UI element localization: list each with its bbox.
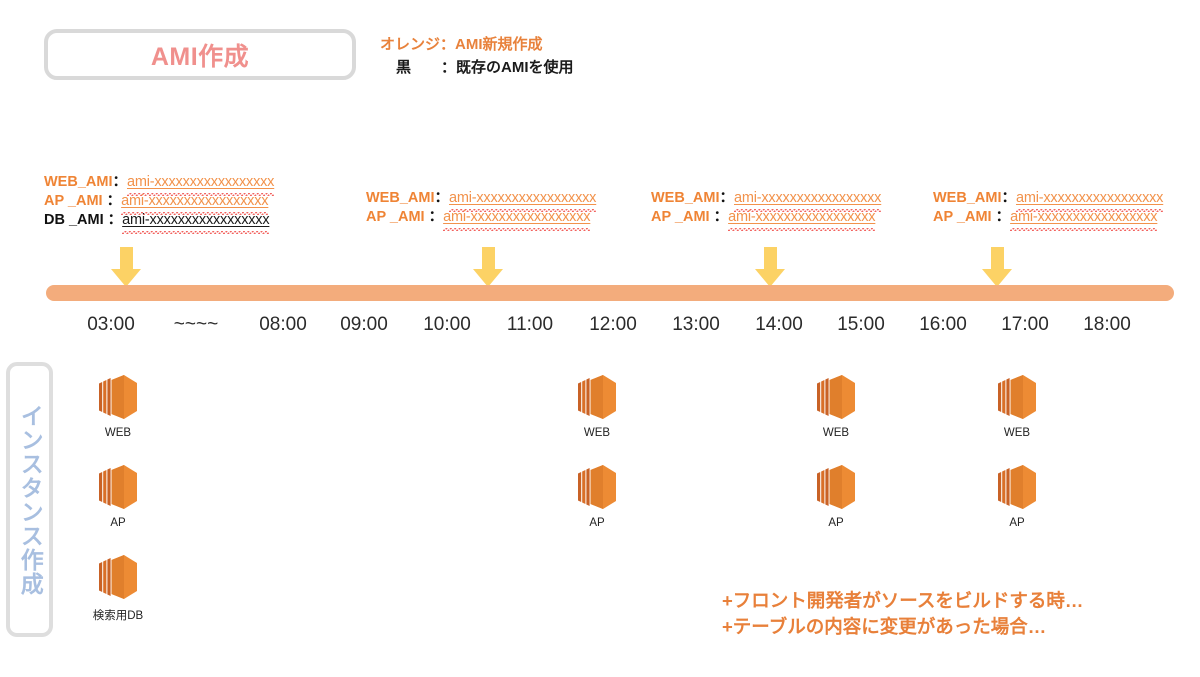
arrow-shaft bbox=[764, 247, 777, 271]
ami-id-spellcheck-wrapper: ami-xxxxxxxxxxxxxxxxx bbox=[734, 189, 881, 208]
down-arrow-icon bbox=[982, 247, 1012, 287]
timeline-tick-label: 16:00 bbox=[903, 314, 983, 336]
ami-label-group: WEB_AMI：ami-xxxxxxxxxxxxxxxxxAP _AMI ：am… bbox=[366, 189, 596, 227]
ami-id-value[interactable]: ami-xxxxxxxxxxxxxxxxx bbox=[1010, 209, 1157, 225]
ami-id-spellcheck-wrapper: ami-xxxxxxxxxxxxxxxxx bbox=[122, 211, 269, 230]
instance-node: WEB bbox=[80, 372, 156, 439]
instance-creation-panel-label: インスタンス作成 bbox=[18, 404, 41, 596]
ec2-icon-body-shade bbox=[112, 465, 125, 509]
legend-description: AMI新規作成 bbox=[455, 33, 543, 56]
ec2-icon-fin bbox=[1006, 468, 1009, 506]
ami-id-value[interactable]: ami-xxxxxxxxxxxxxxxxx bbox=[734, 190, 881, 206]
timeline-tick-label: 12:00 bbox=[573, 314, 653, 336]
timeline-bar bbox=[46, 285, 1174, 301]
ec2-icon-fin bbox=[107, 468, 110, 506]
instance-node-label: AP bbox=[798, 517, 874, 529]
ec2-icon-fin bbox=[99, 562, 102, 592]
ec2-icon-fin bbox=[817, 382, 820, 412]
ami-key: WEB_AMI bbox=[44, 174, 112, 190]
legend-key: 黒 bbox=[380, 56, 411, 79]
ami-label-line: WEB_AMI：ami-xxxxxxxxxxxxxxxxx bbox=[933, 189, 1163, 208]
instance-node: WEB bbox=[559, 372, 635, 439]
ec2-icon-body-shade bbox=[112, 375, 125, 419]
ami-colon: ： bbox=[425, 209, 444, 225]
instance-node-label: WEB bbox=[80, 427, 156, 439]
ec2-icon-body-shade bbox=[830, 465, 843, 509]
ami-colon: ： bbox=[112, 174, 127, 190]
bottom-notes: +フロント開発者がソースをビルドする時…+テーブルの内容に変更があった場合… bbox=[722, 588, 1083, 640]
ami-id-value[interactable]: ami-xxxxxxxxxxxxxxxxx bbox=[127, 174, 274, 190]
instance-node: 検索用DB bbox=[80, 552, 156, 623]
legend-description: 既存のAMIを使用 bbox=[456, 56, 574, 79]
ec2-icon-fin bbox=[1002, 380, 1005, 414]
timeline-tick-label: 11:00 bbox=[490, 314, 570, 336]
bottom-note-line: +フロント開発者がソースをビルドする時… bbox=[722, 588, 1083, 614]
instance-node: AP bbox=[798, 462, 874, 529]
ami-label-line: WEB_AMI：ami-xxxxxxxxxxxxxxxxx bbox=[366, 189, 596, 208]
ami-id-spellcheck-wrapper: ami-xxxxxxxxxxxxxxxxx bbox=[728, 208, 875, 227]
ami-colon: ： bbox=[103, 193, 122, 209]
ami-label-group: WEB_AMI：ami-xxxxxxxxxxxxxxxxxAP _AMI ：am… bbox=[651, 189, 881, 227]
ec2-icon-fin bbox=[998, 382, 1001, 412]
ami-colon: ： bbox=[992, 209, 1011, 225]
ec2-icon-fin bbox=[103, 380, 106, 414]
ec2-icon-fin bbox=[825, 468, 828, 506]
ec2-icon-fin bbox=[1006, 378, 1009, 416]
ami-id-value[interactable]: ami-xxxxxxxxxxxxxxxxx bbox=[121, 193, 268, 209]
timeline-tick-label: 09:00 bbox=[324, 314, 404, 336]
ec2-icon-body-shade bbox=[1011, 465, 1024, 509]
ami-colon: ： bbox=[710, 209, 729, 225]
ec2-icon-fin bbox=[1002, 470, 1005, 504]
ami-label-line: AP _AMI ：ami-xxxxxxxxxxxxxxxxx bbox=[651, 208, 881, 227]
timeline-tick-label: 10:00 bbox=[407, 314, 487, 336]
ami-colon: ： bbox=[719, 190, 734, 206]
ec2-icon-fin bbox=[99, 472, 102, 502]
page-title: AMI作成 bbox=[151, 37, 249, 73]
instance-node: AP bbox=[979, 462, 1055, 529]
down-arrow-icon bbox=[473, 247, 503, 287]
legend-row: オレンジ：AMI新規作成 bbox=[380, 33, 574, 56]
instance-node-label: 検索用DB bbox=[80, 607, 156, 623]
ami-colon: ： bbox=[104, 212, 123, 228]
timeline-tick-label: 03:00 bbox=[71, 314, 151, 336]
legend-separator: ： bbox=[411, 56, 456, 79]
ec2-icon-fin bbox=[107, 558, 110, 596]
ec2-icon-fin bbox=[821, 380, 824, 414]
ami-key: WEB_AMI bbox=[366, 190, 434, 206]
ec2-instance-icon bbox=[96, 462, 140, 512]
ami-key: AP _AMI bbox=[366, 209, 425, 225]
ec2-icon-fin bbox=[586, 378, 589, 416]
instance-node-label: AP bbox=[80, 517, 156, 529]
timeline-tick-label: 08:00 bbox=[243, 314, 323, 336]
ec2-instance-icon bbox=[814, 462, 858, 512]
ami-key: DB _AMI bbox=[44, 212, 104, 228]
ami-id-spellcheck-wrapper: ami-xxxxxxxxxxxxxxxxx bbox=[1010, 208, 1157, 227]
ami-id-spellcheck-wrapper: ami-xxxxxxxxxxxxxxxxx bbox=[121, 192, 268, 211]
timeline-tick-label: 14:00 bbox=[739, 314, 819, 336]
ec2-instance-icon bbox=[995, 372, 1039, 422]
instance-node: AP bbox=[559, 462, 635, 529]
ami-key: WEB_AMI bbox=[933, 190, 1001, 206]
ec2-icon-fin bbox=[103, 560, 106, 594]
ec2-instance-icon bbox=[814, 372, 858, 422]
ami-key: AP _AMI bbox=[651, 209, 710, 225]
ec2-icon-body-shade bbox=[830, 375, 843, 419]
down-arrow-icon bbox=[111, 247, 141, 287]
instance-node: WEB bbox=[798, 372, 874, 439]
ec2-instance-icon bbox=[575, 372, 619, 422]
instance-node: WEB bbox=[979, 372, 1055, 439]
arrow-shaft bbox=[991, 247, 1004, 271]
ec2-instance-icon bbox=[96, 372, 140, 422]
instance-node-label: AP bbox=[559, 517, 635, 529]
ami-label-group: WEB_AMI：ami-xxxxxxxxxxxxxxxxxAP _AMI ：am… bbox=[933, 189, 1163, 227]
ec2-icon-body-shade bbox=[591, 465, 604, 509]
ami-label-line: AP _AMI ：ami-xxxxxxxxxxxxxxxxx bbox=[366, 208, 596, 227]
ami-id-value[interactable]: ami-xxxxxxxxxxxxxxxxx bbox=[443, 209, 590, 225]
legend: オレンジ：AMI新規作成黒 ：既存のAMIを使用 bbox=[380, 33, 574, 79]
timeline-tick-label: 15:00 bbox=[821, 314, 901, 336]
ami-colon: ： bbox=[1001, 190, 1016, 206]
ami-label-group: WEB_AMI：ami-xxxxxxxxxxxxxxxxxAP _AMI ：am… bbox=[44, 173, 274, 230]
ec2-icon-body-shade bbox=[1011, 375, 1024, 419]
legend-row: 黒 ：既存のAMIを使用 bbox=[380, 56, 574, 79]
down-arrow-icon bbox=[755, 247, 785, 287]
ec2-instance-icon bbox=[575, 462, 619, 512]
instance-node-label: AP bbox=[979, 517, 1055, 529]
timeline-tick-label: ~~~~ bbox=[156, 314, 236, 336]
ami-id-value[interactable]: ami-xxxxxxxxxxxxxxxxx bbox=[449, 190, 596, 206]
ec2-icon-fin bbox=[821, 470, 824, 504]
ec2-icon-body-shade bbox=[112, 555, 125, 599]
ami-id-value[interactable]: ami-xxxxxxxxxxxxxxxxx bbox=[728, 209, 875, 225]
ec2-icon-fin bbox=[103, 470, 106, 504]
ec2-instance-icon bbox=[96, 552, 140, 602]
ami-id-spellcheck-wrapper: ami-xxxxxxxxxxxxxxxxx bbox=[1016, 189, 1163, 208]
timeline-tick-label: 17:00 bbox=[985, 314, 1065, 336]
ec2-icon-fin bbox=[578, 472, 581, 502]
ami-label-line: WEB_AMI：ami-xxxxxxxxxxxxxxxxx bbox=[44, 173, 274, 192]
ami-label-line: AP _AMI ：ami-xxxxxxxxxxxxxxxxx bbox=[933, 208, 1163, 227]
arrow-shaft bbox=[120, 247, 133, 271]
bottom-note-line: +テーブルの内容に変更があった場合… bbox=[722, 614, 1083, 640]
ami-label-line: WEB_AMI：ami-xxxxxxxxxxxxxxxxx bbox=[651, 189, 881, 208]
diagram-canvas: AMI作成 オレンジ：AMI新規作成黒 ：既存のAMIを使用 WEB_AMI：a… bbox=[0, 0, 1200, 677]
ami-id-value[interactable]: ami-xxxxxxxxxxxxxxxxx bbox=[1016, 190, 1163, 206]
instance-node: AP bbox=[80, 462, 156, 529]
ami-key: AP _AMI bbox=[44, 193, 103, 209]
ami-id-spellcheck-wrapper: ami-xxxxxxxxxxxxxxxxx bbox=[449, 189, 596, 208]
ami-key: WEB_AMI bbox=[651, 190, 719, 206]
ami-creation-title-box: AMI作成 bbox=[44, 29, 356, 80]
ami-colon: ： bbox=[434, 190, 449, 206]
ami-label-line: AP _AMI ：ami-xxxxxxxxxxxxxxxxx bbox=[44, 192, 274, 211]
ami-key: AP _AMI bbox=[933, 209, 992, 225]
ec2-icon-fin bbox=[107, 378, 110, 416]
legend-separator: ： bbox=[440, 33, 455, 56]
ec2-icon-fin bbox=[582, 470, 585, 504]
arrow-shaft bbox=[482, 247, 495, 271]
instance-node-label: WEB bbox=[979, 427, 1055, 439]
ec2-icon-fin bbox=[586, 468, 589, 506]
ec2-icon-fin bbox=[998, 472, 1001, 502]
ec2-icon-body-shade bbox=[591, 375, 604, 419]
instance-node-label: WEB bbox=[559, 427, 635, 439]
ec2-icon-fin bbox=[582, 380, 585, 414]
ami-id-spellcheck-wrapper: ami-xxxxxxxxxxxxxxxxx bbox=[127, 173, 274, 192]
ec2-icon-fin bbox=[817, 472, 820, 502]
ami-id-spellcheck-wrapper: ami-xxxxxxxxxxxxxxxxx bbox=[443, 208, 590, 227]
ec2-icon-fin bbox=[99, 382, 102, 412]
timeline-tick-label: 13:00 bbox=[656, 314, 736, 336]
ami-label-line: DB _AMI ：ami-xxxxxxxxxxxxxxxxx bbox=[44, 211, 274, 230]
legend-key: オレンジ bbox=[380, 33, 440, 56]
instance-creation-panel: インスタンス作成 bbox=[6, 362, 53, 637]
ec2-icon-fin bbox=[825, 378, 828, 416]
timeline-tick-label: 18:00 bbox=[1067, 314, 1147, 336]
ec2-icon-fin bbox=[578, 382, 581, 412]
ec2-instance-icon bbox=[995, 462, 1039, 512]
ami-id-value[interactable]: ami-xxxxxxxxxxxxxxxxx bbox=[122, 212, 269, 228]
instance-node-label: WEB bbox=[798, 427, 874, 439]
